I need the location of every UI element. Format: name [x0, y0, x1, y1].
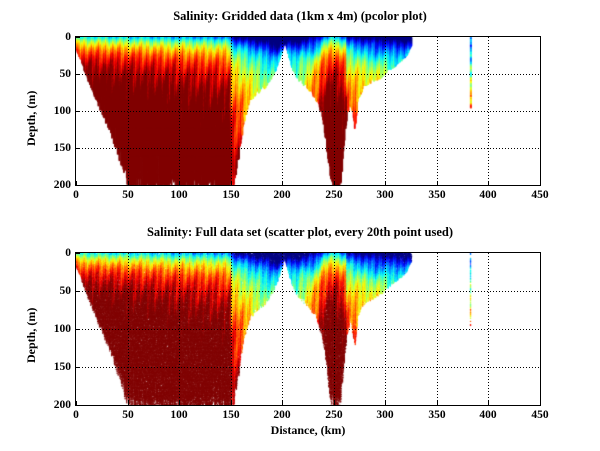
- xtick-mark: [437, 401, 438, 405]
- gridline-horizontal: [76, 148, 540, 149]
- xtick-mark: [385, 181, 386, 185]
- gridline-horizontal: [76, 329, 540, 330]
- xtick-label: 150: [222, 409, 239, 421]
- xtick-label: 200: [273, 189, 290, 201]
- xtick-label: 450: [531, 189, 548, 201]
- xtick-label: 350: [428, 189, 445, 201]
- ytick-mark: [76, 405, 80, 406]
- xtick-label: 100: [170, 189, 187, 201]
- axes-gridded: [75, 36, 541, 186]
- xtick-mark: [334, 401, 335, 405]
- xtick-label: 350: [428, 409, 445, 421]
- xlabel-distance: Distance, (km): [271, 423, 346, 438]
- xtick-label: 400: [479, 189, 496, 201]
- xtick-label: 450: [531, 409, 548, 421]
- xtick-mark: [540, 181, 541, 185]
- ylabel-scatter: Depth, (m): [24, 308, 39, 363]
- xtick-mark: [282, 181, 283, 185]
- xtick-label: 300: [376, 189, 393, 201]
- ytick-label: 50: [45, 285, 71, 297]
- ytick-label: 150: [45, 361, 71, 373]
- xtick-mark: [179, 181, 180, 185]
- ytick-mark: [76, 37, 80, 38]
- panel-title-scatter: Salinity: Full data set (scatter plot, e…: [0, 225, 600, 240]
- xtick-mark: [231, 181, 232, 185]
- ytick-label: 50: [45, 68, 71, 80]
- xtick-label: 0: [73, 409, 79, 421]
- ytick-mark: [76, 367, 80, 368]
- figure-canvas: Salinity: Gridded data (1km x 4m) (pcolo…: [0, 0, 600, 451]
- xtick-label: 200: [273, 409, 290, 421]
- ytick-mark: [76, 74, 80, 75]
- xtick-mark: [540, 401, 541, 405]
- xtick-label: 150: [222, 189, 239, 201]
- xtick-mark: [282, 401, 283, 405]
- ytick-label: 150: [45, 142, 71, 154]
- xtick-label: 300: [376, 409, 393, 421]
- xtick-label: 50: [122, 189, 134, 201]
- gridline-horizontal: [76, 111, 540, 112]
- panel-title-gridded: Salinity: Gridded data (1km x 4m) (pcolo…: [0, 9, 600, 24]
- panel-gridded-pcolor: Salinity: Gridded data (1km x 4m) (pcolo…: [0, 0, 600, 215]
- ytick-label: 100: [45, 323, 71, 335]
- xtick-mark: [128, 181, 129, 185]
- axes-scatter: [75, 252, 541, 406]
- ytick-label: 200: [45, 179, 71, 191]
- xtick-mark: [179, 401, 180, 405]
- ytick-label: 200: [45, 399, 71, 411]
- ytick-label: 100: [45, 105, 71, 117]
- xtick-mark: [488, 181, 489, 185]
- ylabel-gridded: Depth, (m): [24, 91, 39, 146]
- xtick-label: 100: [170, 409, 187, 421]
- panel-full-scatter: Salinity: Full data set (scatter plot, e…: [0, 215, 600, 451]
- xtick-mark: [385, 401, 386, 405]
- xtick-mark: [231, 401, 232, 405]
- xtick-label: 50: [122, 409, 134, 421]
- xtick-mark: [334, 181, 335, 185]
- ytick-mark: [76, 148, 80, 149]
- xtick-mark: [437, 181, 438, 185]
- xtick-label: 400: [479, 409, 496, 421]
- xtick-label: 250: [325, 409, 342, 421]
- xtick-mark: [128, 401, 129, 405]
- ytick-mark: [76, 329, 80, 330]
- xtick-label: 0: [73, 189, 79, 201]
- gridline-horizontal: [76, 74, 540, 75]
- ytick-mark: [76, 291, 80, 292]
- xtick-mark: [488, 401, 489, 405]
- ytick-mark: [76, 185, 80, 186]
- ytick-mark: [76, 111, 80, 112]
- gridline-horizontal: [76, 367, 540, 368]
- ytick-label: 0: [45, 31, 71, 43]
- ytick-label: 0: [45, 247, 71, 259]
- xtick-label: 250: [325, 189, 342, 201]
- ytick-mark: [76, 253, 80, 254]
- gridline-horizontal: [76, 291, 540, 292]
